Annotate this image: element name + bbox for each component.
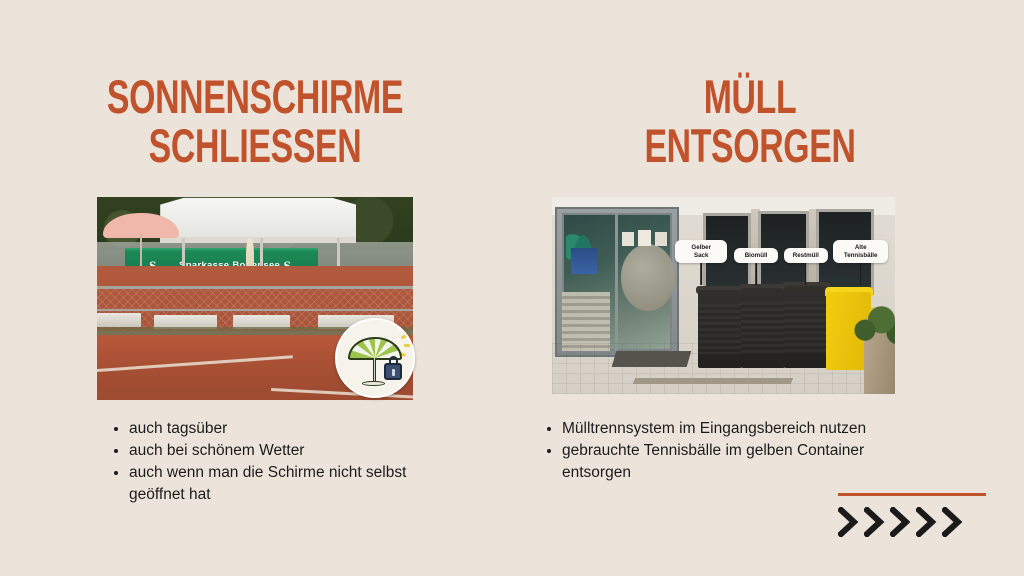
callout-restmuell: Restmüll	[784, 248, 829, 263]
list-item: auch tagsüber	[112, 418, 452, 440]
bin-ribs	[741, 302, 786, 354]
planter-foliage	[854, 299, 895, 350]
notice-board	[571, 248, 597, 274]
door-mat	[611, 351, 691, 367]
callout-gelber-sack: Gelber Sack	[675, 240, 726, 262]
padlock-keyhole-icon	[392, 369, 395, 376]
sun-ray-icon	[404, 344, 410, 347]
right-bullet-list: Mülltrennsystem im Eingangsbereich nutze…	[545, 418, 885, 484]
tent-edge	[160, 237, 356, 243]
chevron-right-icon	[916, 507, 938, 537]
notice-sheet	[655, 232, 667, 246]
right-heading: Müll Entsorgen	[584, 72, 915, 170]
stairs	[562, 292, 610, 351]
sun-ray-icon	[401, 334, 408, 339]
list-item: auch bei schönem Wetter	[112, 440, 452, 462]
bench	[97, 313, 141, 327]
bin-ribs	[784, 301, 829, 354]
notice-sheet	[622, 232, 634, 246]
white-tent	[160, 197, 356, 240]
left-heading: Sonnenschirme schliessen	[100, 72, 410, 170]
black-bin	[698, 290, 743, 369]
slide-root: Sonnenschirme schliessen S S Sparkasse B…	[0, 0, 1024, 576]
list-item: gebrauchte Tennisbälle im gelben Contain…	[545, 440, 885, 484]
chevron-arrows	[838, 507, 986, 537]
notice-sheet	[638, 230, 652, 246]
umbrella-pole	[373, 358, 376, 382]
black-bin	[784, 286, 829, 369]
left-bullet-list: auch tagsüber auch bei schönem Wetter au…	[112, 418, 452, 506]
left-column: Sonnenschirme schliessen S S Sparkasse B…	[40, 0, 470, 576]
callout-biomuell: Biomüll	[734, 248, 779, 263]
fence-rail	[97, 309, 413, 311]
chevron-right-icon	[942, 507, 964, 537]
bin-ribs	[698, 304, 743, 354]
umbrella-lock-badge	[335, 318, 415, 398]
right-column: Müll Entsorgen	[520, 0, 980, 576]
umbrella-base	[362, 381, 385, 386]
black-bin	[741, 288, 786, 369]
accent-rule	[838, 493, 986, 496]
chevron-right-icon	[864, 507, 886, 537]
chevron-right-icon	[838, 507, 860, 537]
list-item: Mülltrennsystem im Eingangsbereich nutze…	[545, 418, 885, 440]
callout-alte-tennisbaelle: Alte Tennisbälle	[833, 240, 888, 262]
right-photo: Gelber Sack Biomüll Restmüll Alte Tennis…	[552, 197, 895, 394]
chevron-right-icon	[890, 507, 912, 537]
fence-rail	[97, 286, 413, 289]
chevron-decoration	[838, 493, 986, 537]
door-mullion	[615, 213, 618, 351]
list-item: auch wenn man die Schirme nicht selbst g…	[112, 462, 452, 506]
drain-channel	[633, 378, 793, 384]
